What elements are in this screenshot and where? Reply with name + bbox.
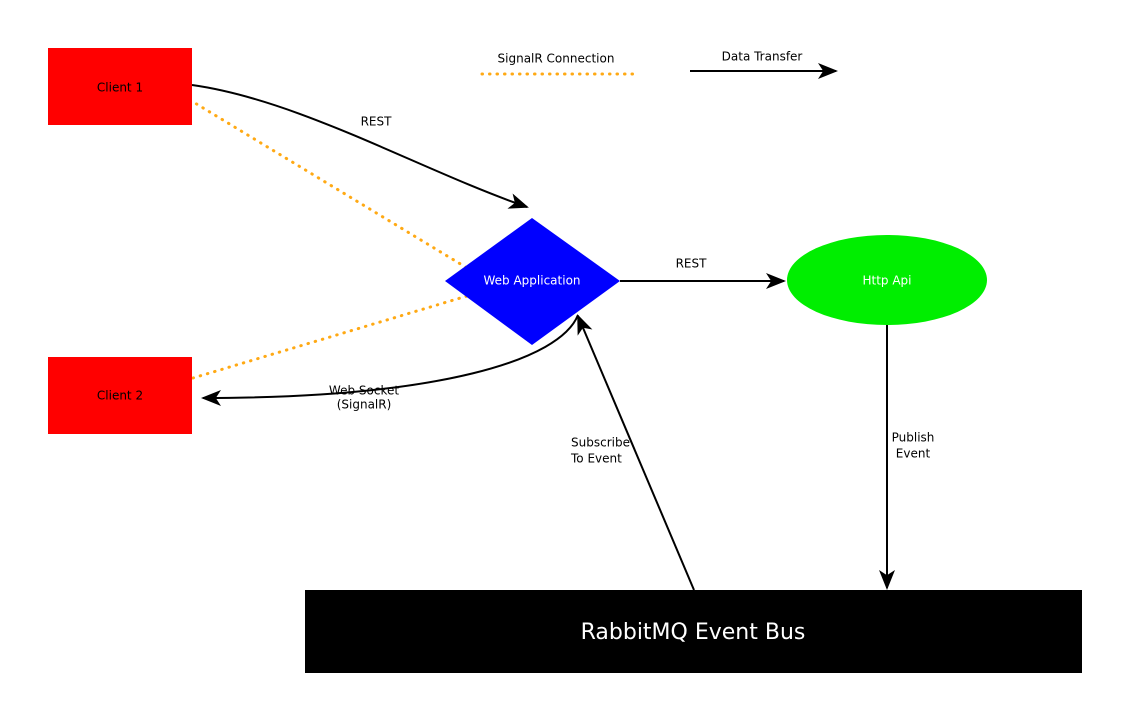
node-http-api[interactable]: Http Api xyxy=(787,235,987,325)
legend: SignalR Connection Data Transfer xyxy=(482,50,836,75)
node-label-rabbitmq-event-bus: RabbitMQ Event Bus xyxy=(581,620,806,645)
legend-label-data-transfer: Data Transfer xyxy=(722,50,803,64)
edges: REST Web Socket (SignalR) REST Publish xyxy=(190,85,934,590)
nodes: Client 1 Client 2 Web Application Http A… xyxy=(48,48,1082,673)
node-client1[interactable]: Client 1 xyxy=(48,48,192,125)
node-rabbitmq-event-bus[interactable]: RabbitMQ Event Bus xyxy=(305,590,1082,673)
edge-label-subscribe-line1: Subscribe xyxy=(571,436,630,450)
node-label-client1: Client 1 xyxy=(97,81,143,95)
edge-label-websocket-line1: Web Socket xyxy=(329,384,399,398)
edge-eventbus-to-webapp-subscribe: Subscribe To Event xyxy=(570,316,694,590)
edge-label-subscribe-line2: To Event xyxy=(570,452,622,466)
node-label-web-application: Web Application xyxy=(483,274,580,288)
architecture-diagram: SignalR Connection Data Transfer REST We… xyxy=(0,0,1139,709)
edge-line-client1-webapp xyxy=(192,85,527,207)
legend-item-data-transfer: Data Transfer xyxy=(690,50,836,72)
edge-line-signalr-client2-webapp xyxy=(193,296,467,378)
edge-client1-to-webapp-rest: REST xyxy=(192,85,527,207)
diagram-canvas: SignalR Connection Data Transfer REST We… xyxy=(0,0,1139,709)
node-web-application[interactable]: Web Application xyxy=(445,218,620,345)
node-client2[interactable]: Client 2 xyxy=(48,357,192,434)
edge-webapp-to-httpapi-rest: REST xyxy=(620,257,784,282)
edge-label-publish-line1: Publish xyxy=(892,431,935,445)
edge-label-publish-line2: Event xyxy=(896,447,931,461)
legend-item-signalr: SignalR Connection xyxy=(482,52,634,75)
edge-label-websocket-line2: (SignalR) xyxy=(337,398,392,412)
node-label-http-api: Http Api xyxy=(862,274,911,288)
edge-label-rest-client1: REST xyxy=(361,115,393,129)
edge-label-rest-httpapi: REST xyxy=(676,257,708,271)
edge-httpapi-to-eventbus-publish: Publish Event xyxy=(887,325,934,588)
legend-label-signalr: SignalR Connection xyxy=(498,52,615,66)
node-label-client2: Client 2 xyxy=(97,389,143,403)
